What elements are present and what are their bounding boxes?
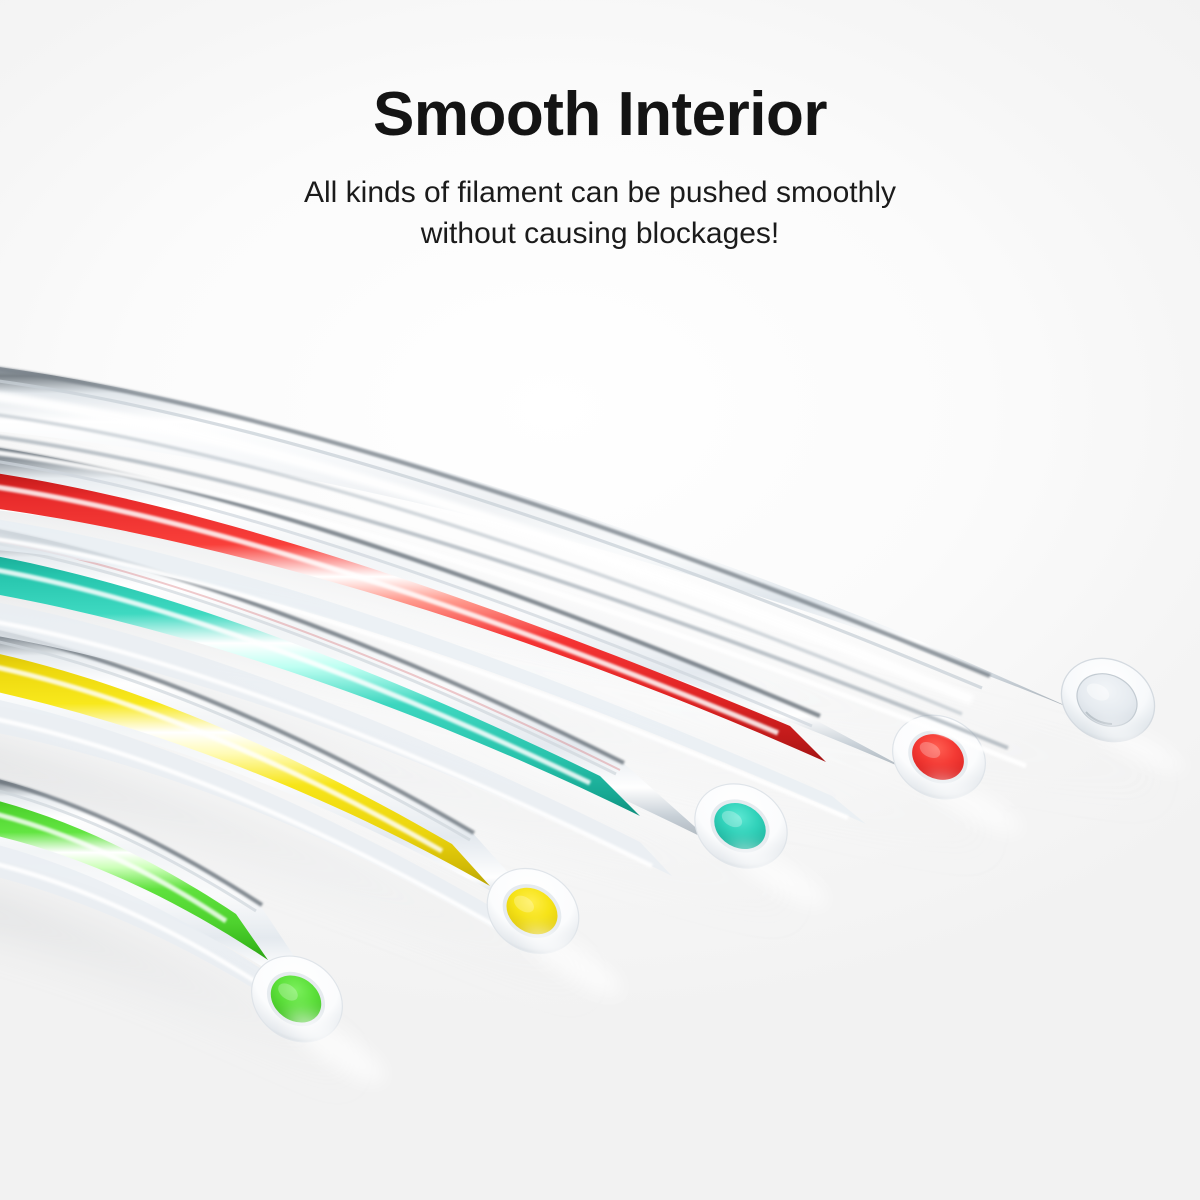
product-feature-image: Smooth Interior All kinds of filament ca… [0, 0, 1200, 1200]
page-subtitle-line-2: without causing blockages! [0, 213, 1200, 254]
page-subtitle: All kinds of filament can be pushed smoo… [0, 172, 1200, 255]
text-block: Smooth Interior All kinds of filament ca… [0, 84, 1200, 255]
page-subtitle-line-1: All kinds of filament can be pushed smoo… [0, 172, 1200, 213]
page-title: Smooth Interior [0, 84, 1200, 146]
